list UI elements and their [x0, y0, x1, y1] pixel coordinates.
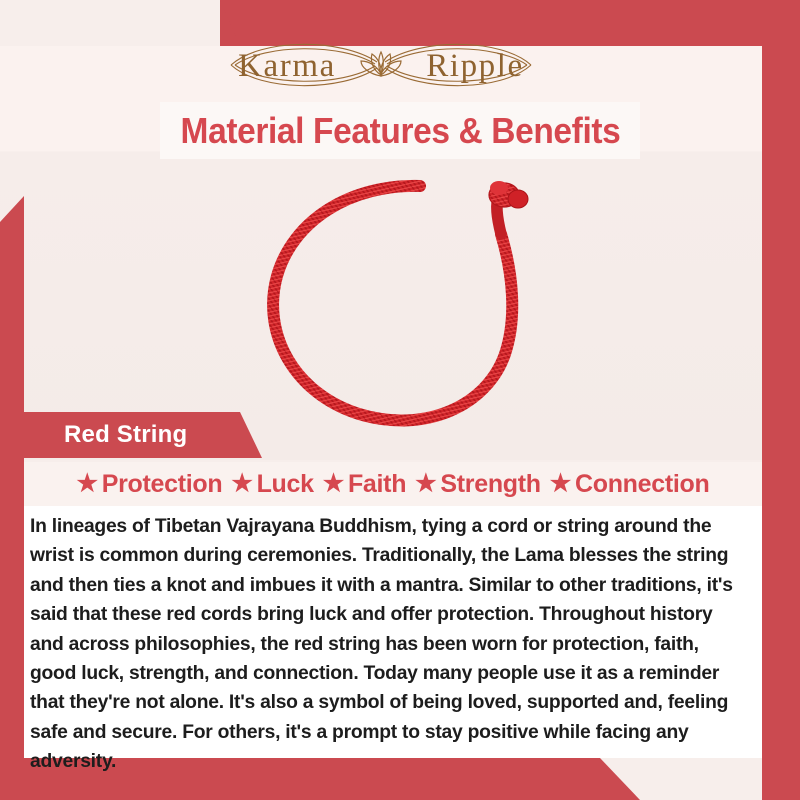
benefit-item-protection: ★ Protection [77, 470, 223, 499]
benefit-label: Strength [440, 470, 540, 499]
page-title-band: Material Features & Benefits [160, 102, 640, 159]
star-icon: ★ [323, 472, 344, 496]
right-accent-band [762, 0, 800, 800]
benefit-label: Luck [257, 470, 314, 499]
benefits-row: ★ Protection ★ Luck ★ Faith ★ Strength ★… [24, 462, 762, 506]
top-accent-band [0, 0, 800, 46]
star-icon: ★ [231, 472, 252, 496]
left-accent-band [0, 196, 24, 800]
bracelet-knot [489, 181, 528, 208]
material-name-label: Red String [64, 421, 187, 449]
benefit-label: Connection [575, 470, 710, 499]
product-info-poster: Karma Ripple Material Features & Benefit… [0, 0, 800, 800]
bracelet-illustration [255, 168, 575, 440]
benefit-label: Faith [348, 470, 406, 499]
material-name-ribbon: Red String [0, 412, 262, 458]
product-image-red-string-bracelet [255, 168, 575, 440]
page-title: Material Features & Benefits [180, 110, 620, 152]
star-icon: ★ [77, 472, 98, 496]
benefit-item-strength: ★ Strength [415, 470, 541, 499]
description-text: In lineages of Tibetan Vajrayana Buddhis… [30, 512, 744, 777]
star-icon: ★ [550, 472, 571, 496]
benefit-item-faith: ★ Faith [323, 470, 406, 499]
benefit-item-luck: ★ Luck [231, 470, 313, 499]
star-icon: ★ [415, 472, 436, 496]
description-block: In lineages of Tibetan Vajrayana Buddhis… [24, 506, 762, 758]
benefit-label: Protection [102, 470, 223, 499]
benefit-item-connection: ★ Connection [550, 470, 710, 499]
